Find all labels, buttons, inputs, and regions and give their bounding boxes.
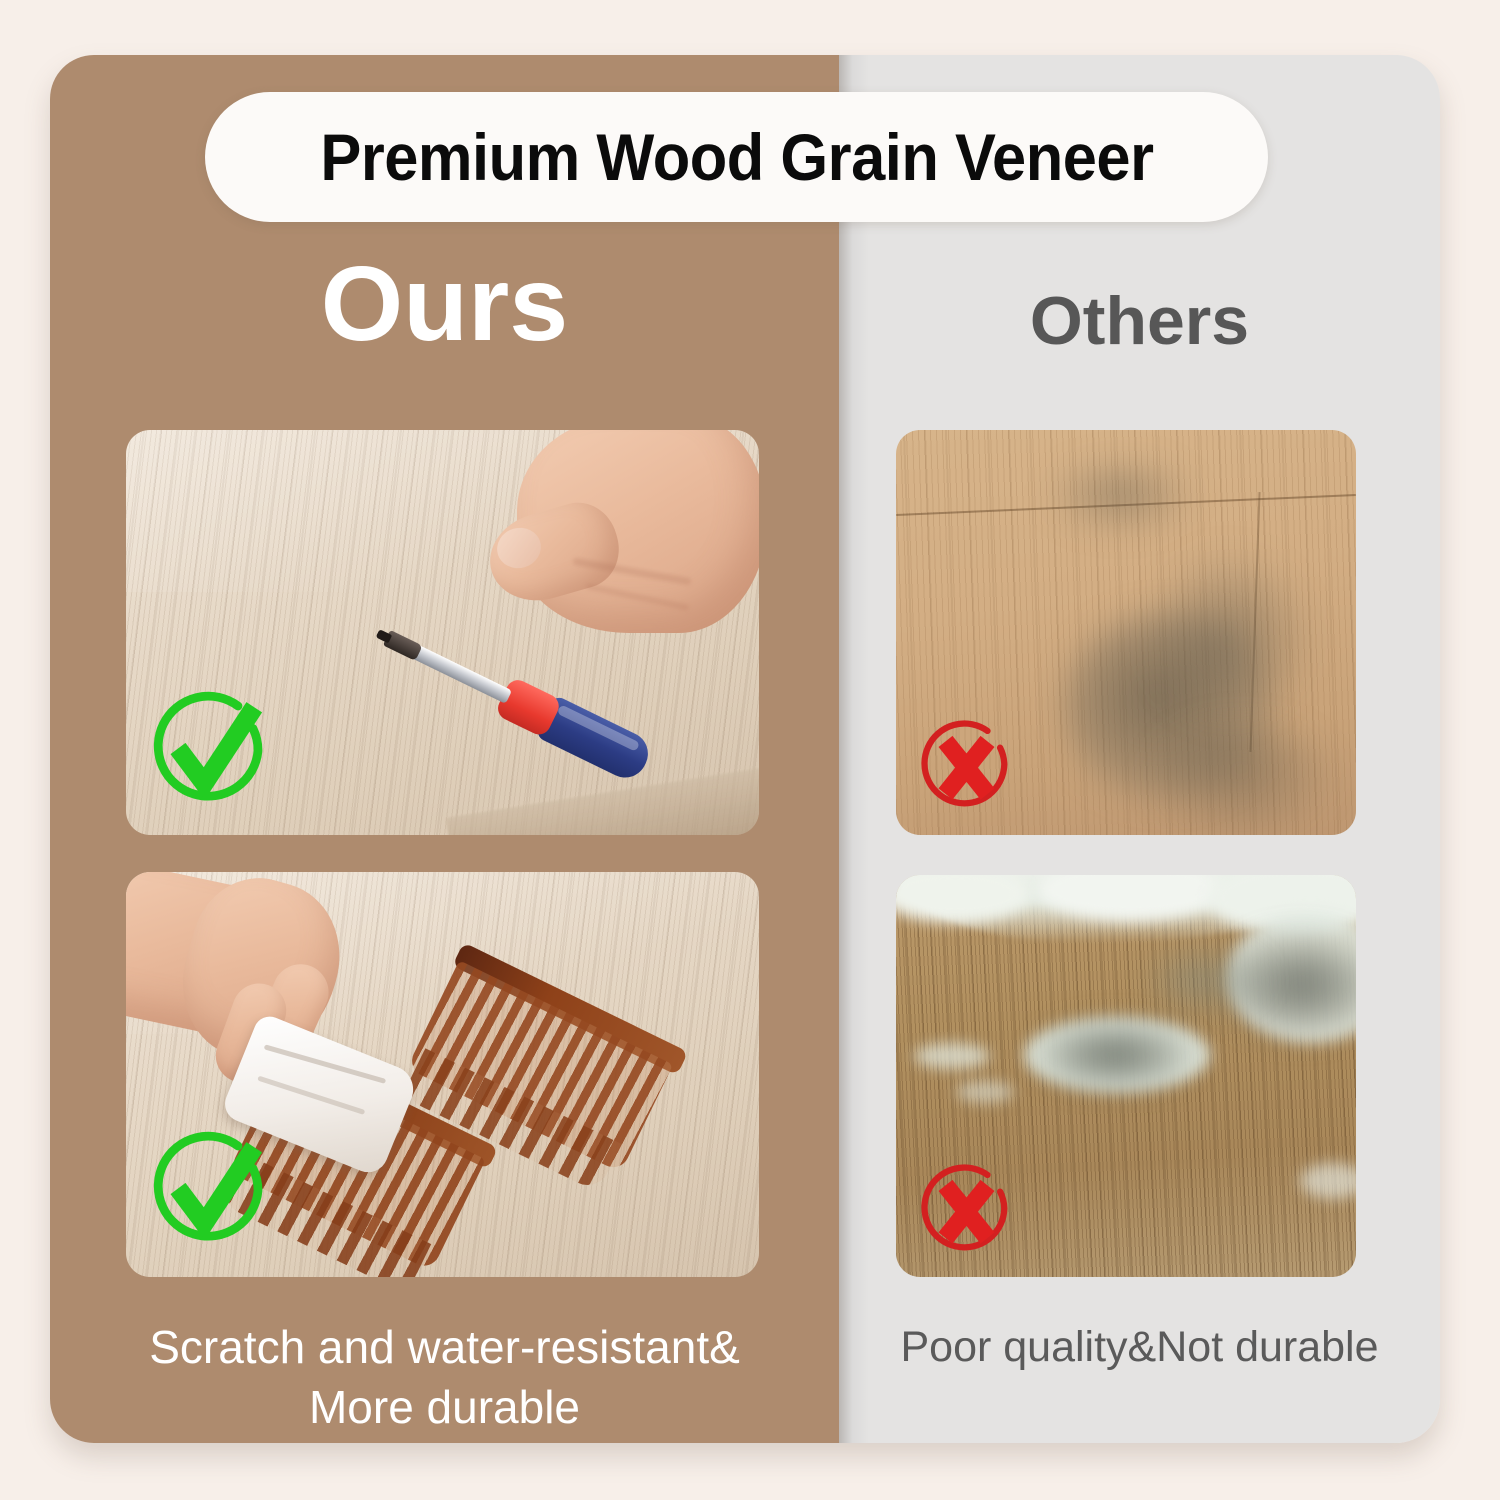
page-title: Premium Wood Grain Veneer [320, 119, 1153, 195]
photo-ours-stain-test [126, 872, 759, 1277]
check-mark-icon [148, 1126, 273, 1251]
stain-blotch [1046, 458, 1196, 532]
peeling-flake [914, 1043, 990, 1069]
cross-mark-icon [914, 1156, 1019, 1261]
ours-heading: Ours [50, 251, 839, 357]
ours-caption-line-1: Scratch and water-resistant& [50, 1318, 839, 1378]
photo-others-water-stain [896, 430, 1356, 835]
comparison-card: Ours [50, 55, 1440, 1443]
stain-blotch [1144, 548, 1314, 728]
check-mark-icon [148, 686, 273, 811]
stain-blotch [1146, 722, 1336, 835]
photo-ours-scratch-test [126, 430, 759, 835]
ours-caption-line-2: More durable [50, 1378, 839, 1438]
mold-patch [1042, 1027, 1188, 1083]
cross-mark-icon [914, 712, 1019, 817]
others-caption: Poor quality&Not durable [839, 1320, 1440, 1376]
ours-caption: Scratch and water-resistant& More durabl… [50, 1318, 839, 1438]
hand-graphic [477, 430, 759, 668]
others-heading: Others [839, 287, 1440, 355]
mold-patch [1142, 947, 1266, 1013]
others-panel: Others [839, 55, 1440, 1443]
peeling-flake [956, 1081, 1014, 1103]
ours-panel: Ours [50, 55, 839, 1443]
photo-others-decay [896, 875, 1356, 1277]
title-banner: Premium Wood Grain Veneer [205, 92, 1268, 222]
